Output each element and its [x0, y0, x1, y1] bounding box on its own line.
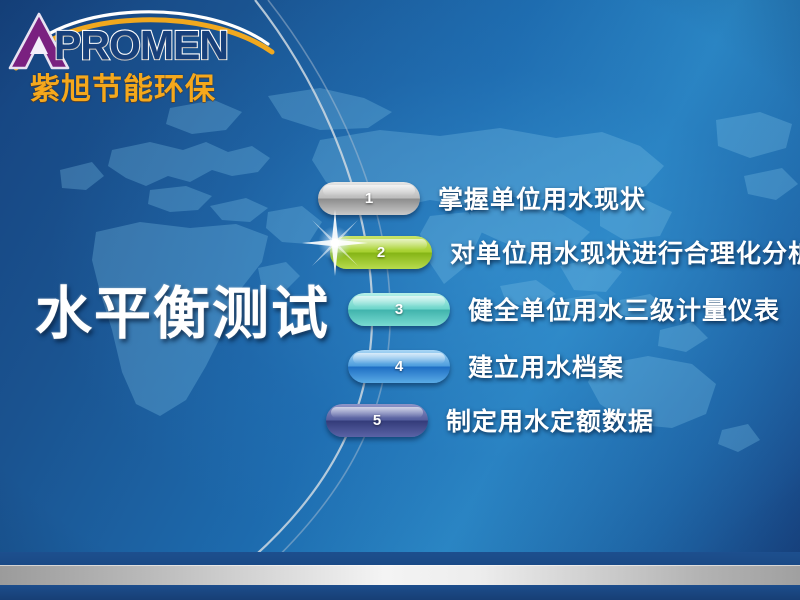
- item-label: 制定用水定额数据: [446, 402, 654, 438]
- page-title: 水平衡测试: [35, 268, 330, 350]
- item-number-badge[interactable]: 2: [330, 236, 432, 269]
- item-number-badge[interactable]: 5: [326, 404, 428, 437]
- bottom-footer-strip: [0, 585, 800, 600]
- item-label: 健全单位用水三级计量仪表: [468, 291, 780, 327]
- item-number: 1: [365, 190, 373, 207]
- item-number-badge[interactable]: 3: [348, 293, 450, 326]
- list-item[interactable]: 4 建立用水档案: [348, 348, 624, 384]
- item-number-badge[interactable]: 1: [318, 182, 420, 215]
- logo-chinese-name: 紫旭节能环保: [30, 64, 216, 108]
- bottom-upper-strip: [0, 552, 800, 565]
- list-item[interactable]: 3 健全单位用水三级计量仪表: [348, 291, 780, 327]
- item-label: 掌握单位用水现状: [438, 180, 646, 216]
- item-number: 3: [395, 301, 403, 318]
- list-item[interactable]: 2 对单位用水现状进行合理化分析: [330, 234, 800, 270]
- list-item[interactable]: 5 制定用水定额数据: [326, 402, 654, 438]
- logo-wordmark: PROMEN: [54, 22, 228, 69]
- item-number-badge[interactable]: 4: [348, 350, 450, 383]
- item-label: 对单位用水现状进行合理化分析: [450, 234, 800, 270]
- item-number: 4: [395, 358, 403, 375]
- presentation-slide: PROMEN 紫旭节能环保 水平衡测试 1 掌握单位用水现状 2 对单位用水现状…: [0, 0, 800, 600]
- company-logo: PROMEN 紫旭节能环保: [0, 0, 300, 112]
- item-label: 建立用水档案: [468, 348, 624, 384]
- bottom-silver-bar: [0, 565, 800, 587]
- item-number: 5: [373, 412, 381, 429]
- list-item[interactable]: 1 掌握单位用水现状: [318, 180, 646, 216]
- item-number: 2: [377, 244, 385, 261]
